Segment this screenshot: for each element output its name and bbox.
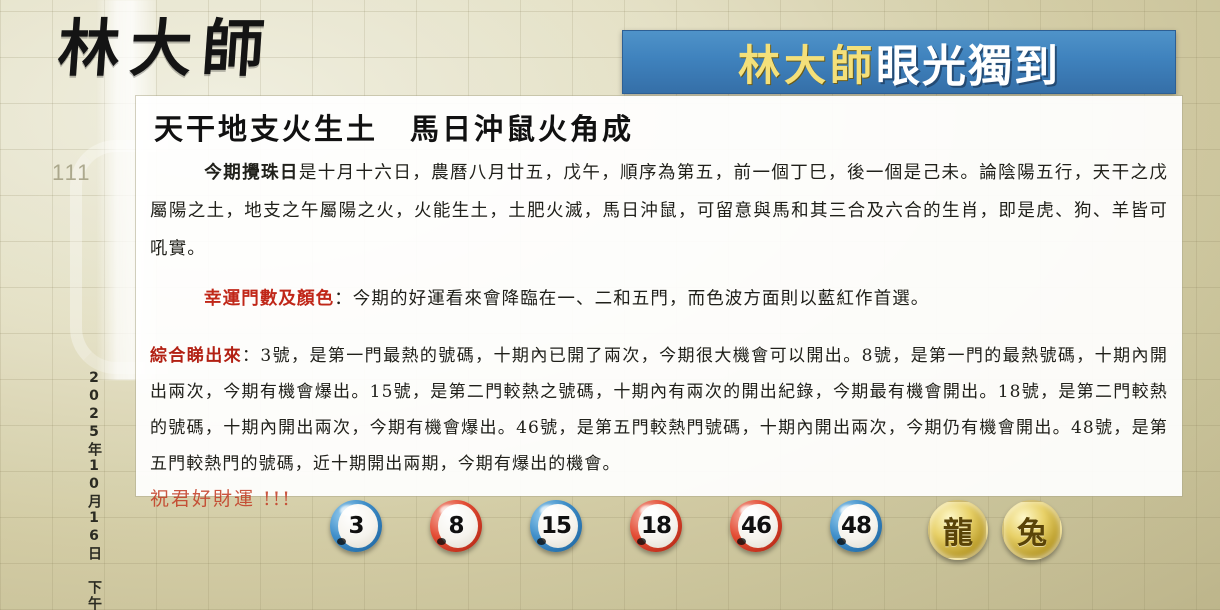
ball-hole <box>337 538 346 545</box>
ball-gloss <box>440 505 458 516</box>
lottery-ball[interactable]: 46 <box>730 500 782 552</box>
lucky-number-balls: 3 8 15 18 46 48 <box>330 500 882 552</box>
article-paragraph-3: 綜合睇出來：3號，是第一門最熱的號碼，十期內已開了兩次，今期很大機會可以開出。8… <box>150 338 1168 482</box>
zodiac-coin-label: 龍 <box>943 508 973 552</box>
ball-gloss <box>740 505 758 516</box>
banner-brand-text: 林大師 <box>738 32 876 93</box>
lottery-ball[interactable]: 18 <box>630 500 682 552</box>
ball-hole <box>837 538 846 545</box>
ball-number: 8 <box>448 513 463 539</box>
ball-number: 3 <box>348 513 363 539</box>
ball-gloss <box>340 505 358 516</box>
paragraph-3-body: ：3號，是第一門最熱的號碼，十期內已開了兩次，今期很大機會可以開出。8號，是第一… <box>150 346 1168 474</box>
lottery-ball[interactable]: 3 <box>330 500 382 552</box>
lottery-ball[interactable]: 48 <box>830 500 882 552</box>
article-paragraph-1: 今期攪珠日是十月十六日，農曆八月廿五，戊午，順序為第五，前一個丁巳，後一個是己未… <box>150 154 1168 268</box>
ball-number: 48 <box>841 513 871 539</box>
paragraph-2-body: ：今期的好運看來會降臨在一、二和五門，而色波方面則以藍紅作首選。 <box>334 289 929 309</box>
lottery-ball[interactable]: 8 <box>430 500 482 552</box>
zodiac-coin-dragon[interactable]: 龍 <box>928 500 988 560</box>
zodiac-coin-label: 兔 <box>1017 508 1047 552</box>
ball-gloss <box>840 505 858 516</box>
ball-hole <box>537 538 546 545</box>
ball-number: 46 <box>741 513 771 539</box>
ball-hole <box>637 538 646 545</box>
ball-number: 18 <box>641 513 671 539</box>
paragraph-2-lead: 幸運門數及顏色 <box>204 289 334 309</box>
banner-slogan-text: 眼光獨到 <box>876 30 1060 94</box>
ball-hole <box>737 538 746 545</box>
paragraph-1-body: 是十月十六日，農曆八月廿五，戊午，順序為第五，前一個丁巳，後一個是己未。論陰陽五… <box>150 163 1168 259</box>
header-banner: 林大師 眼光獨到 <box>622 30 1176 94</box>
site-logo: 林大師 <box>56 18 276 80</box>
zodiac-coins: 龍 兔 <box>928 500 1062 560</box>
lottery-ball[interactable]: 15 <box>530 500 582 552</box>
ball-number: 15 <box>541 513 571 539</box>
zodiac-coin-rabbit[interactable]: 兔 <box>1002 500 1062 560</box>
ball-gloss <box>540 505 558 516</box>
paragraph-1-lead: 今期攪珠日 <box>204 163 299 183</box>
page-root: 111 林大師 林大師 眼光獨到 天干地支火生土 馬日沖鼠火角成 今期攪珠日是十… <box>0 0 1220 610</box>
article-paragraph-2: 幸運門數及顏色：今期的好運看來會降臨在一、二和五門，而色波方面則以藍紅作首選。 <box>150 280 1168 318</box>
watermark-number: 111 <box>52 160 142 186</box>
paragraph-3-lead: 綜合睇出來 <box>150 346 242 366</box>
article-panel: 天干地支火生土 馬日沖鼠火角成 今期攪珠日是十月十六日，農曆八月廿五，戊午，順序… <box>136 96 1182 496</box>
article-headline: 天干地支火生土 馬日沖鼠火角成 <box>154 106 1182 148</box>
update-timestamp: 2025年10月16日 下午六時更新 <box>84 370 104 600</box>
ball-gloss <box>640 505 658 516</box>
ball-hole <box>437 538 446 545</box>
